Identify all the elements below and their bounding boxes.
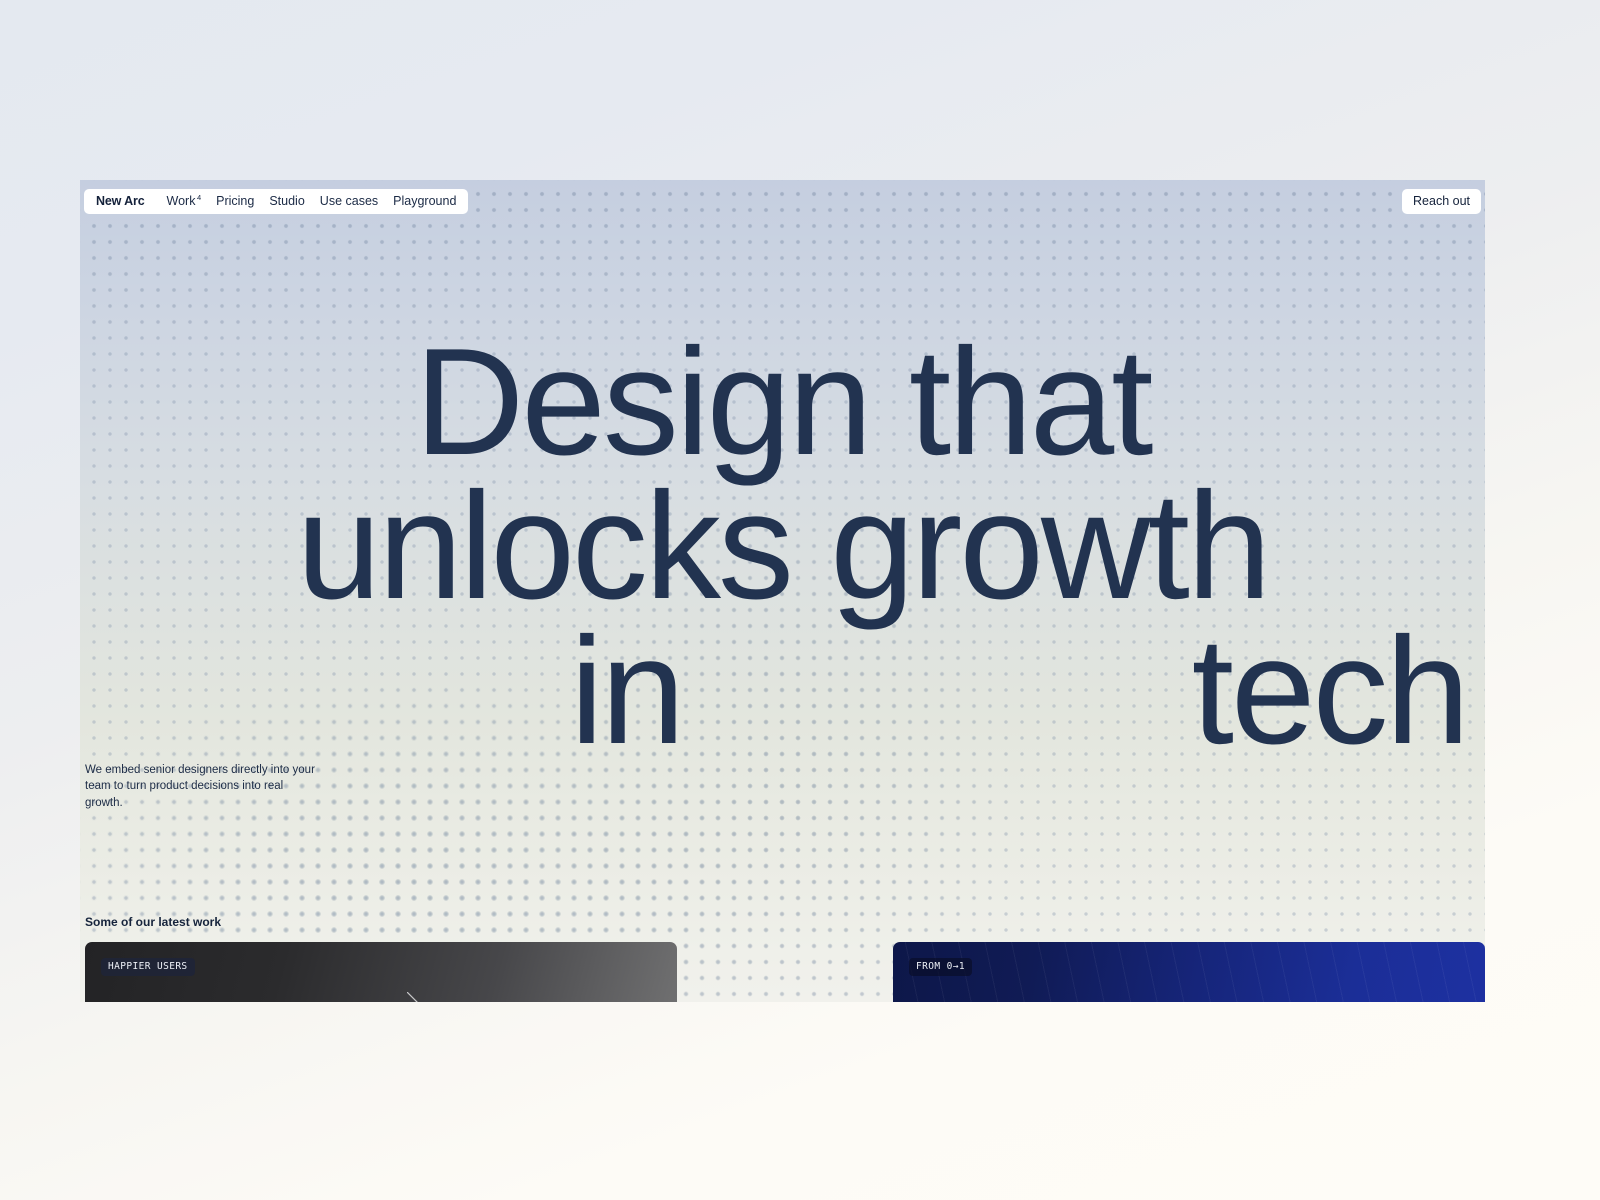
main-navigation: New Arc Work4 Pricing Studio Use cases P… — [80, 186, 1485, 216]
nav-item-work-count: 4 — [197, 193, 201, 202]
nav-item-work[interactable]: Work4 — [167, 193, 202, 208]
hero-line-2: unlocks growth — [80, 474, 1485, 618]
brand-logo[interactable]: New Arc — [96, 194, 145, 208]
latest-work-label: Some of our latest work — [85, 915, 221, 929]
reach-out-button[interactable]: Reach out — [1402, 189, 1481, 214]
hero-line-3: intech — [80, 619, 1485, 763]
work-card-from-0-to-1[interactable]: FROM 0→1 — [893, 942, 1485, 1002]
hero-subtext: We embed senior designers directly into … — [85, 762, 315, 811]
work-card-happier-users[interactable]: HAPPIER USERS — [85, 942, 677, 1002]
nav-item-studio[interactable]: Studio — [269, 194, 304, 208]
nav-pill: New Arc Work4 Pricing Studio Use cases P… — [84, 189, 468, 214]
work-card-badge: HAPPIER USERS — [101, 958, 195, 976]
halftone-dots-base — [80, 180, 1485, 1002]
latest-work-grid: HAPPIER USERS FROM 0→1 — [85, 942, 1485, 1002]
card-fold-highlight — [407, 992, 677, 1002]
nav-item-work-label: Work — [167, 195, 196, 209]
hero-headline: Design that unlocks growth intech — [80, 330, 1485, 763]
hero-line-1: Design that — [80, 330, 1485, 474]
browser-viewport: New Arc Work4 Pricing Studio Use cases P… — [80, 180, 1485, 1002]
nav-item-use-cases[interactable]: Use cases — [320, 194, 378, 208]
halftone-dots-cluster — [80, 180, 1485, 1002]
nav-item-playground[interactable]: Playground — [393, 194, 456, 208]
card-streak-texture — [893, 942, 1485, 1002]
hero-line-3-trail: tech — [1192, 606, 1467, 776]
halftone-dots-center — [80, 180, 1485, 1002]
halftone-dots-top — [80, 180, 1485, 1002]
work-card-badge: FROM 0→1 — [909, 958, 972, 976]
nav-item-pricing[interactable]: Pricing — [216, 194, 254, 208]
hero-line-3-lead: in — [570, 619, 682, 763]
nav-links: Work4 Pricing Studio Use cases Playgroun… — [167, 193, 457, 208]
